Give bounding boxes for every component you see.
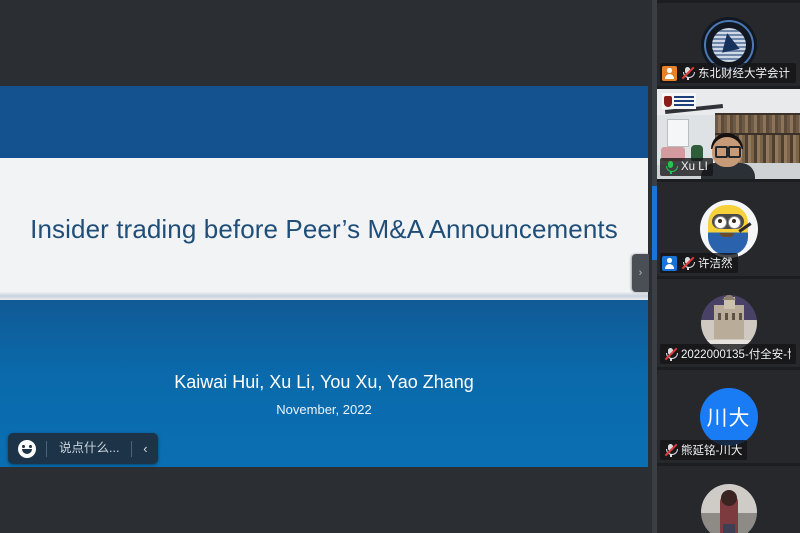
slide-date: November, 2022 xyxy=(0,402,648,417)
zoom-meeting-window: Insider trading before Peer’s M&A Announ… xyxy=(0,0,800,533)
participant-tile[interactable]: Xu LI xyxy=(657,89,800,179)
participant-name: 熊延铭-川大 xyxy=(681,442,742,458)
mic-muted-icon xyxy=(681,66,694,80)
slide-title: Insider trading before Peer’s M&A Announ… xyxy=(0,158,648,300)
slide-authors: Kaiwai Hui, Xu Li, You Xu, Yao Zhang xyxy=(0,372,648,393)
participant-namebar: 熊延铭-川大 xyxy=(660,440,747,460)
slide-top-band xyxy=(0,86,648,158)
presentation-slide: Insider trading before Peer’s M&A Announ… xyxy=(0,86,648,467)
participant-namebar: 东北财经大学会计… xyxy=(660,63,796,83)
participants-panel: 东北财经大学会计… xyxy=(652,0,800,533)
participant-namebar: Xu LI xyxy=(660,158,713,176)
participant-name: 许洁然 xyxy=(698,255,733,271)
mic-muted-icon xyxy=(681,256,694,270)
avatar-badge-icon xyxy=(662,256,677,271)
participant-namebar: 许洁然 xyxy=(660,253,738,273)
person-photo-avatar xyxy=(701,484,757,533)
chat-bar[interactable]: 说点什么... ‹ xyxy=(8,433,158,464)
participant-name: Xu LI xyxy=(681,161,708,173)
participant-tile[interactable]: 2022000135-付全安-博… xyxy=(657,279,800,367)
avatar-badge-icon xyxy=(662,66,677,81)
participant-namebar: 2022000135-付全安-博… xyxy=(660,344,796,364)
mic-muted-icon xyxy=(664,443,677,457)
mic-muted-icon xyxy=(664,347,677,361)
participant-name: 2022000135-付全安-博… xyxy=(681,346,791,362)
chat-input[interactable]: 说点什么... xyxy=(47,433,131,464)
participant-tile[interactable]: 许洁然 xyxy=(657,182,800,276)
mic-unmuted-icon xyxy=(664,160,677,174)
building-photo-avatar xyxy=(701,295,757,351)
hku-logo-icon xyxy=(662,93,696,109)
smiley-icon[interactable] xyxy=(8,433,46,464)
initials-avatar: 川大 xyxy=(700,388,758,446)
collapse-participants-panel-handle[interactable]: › xyxy=(632,254,649,292)
shared-screen-stage: Insider trading before Peer’s M&A Announ… xyxy=(0,0,652,533)
participant-tile[interactable]: 川大 熊延铭-川大 xyxy=(657,370,800,463)
chat-collapse-icon[interactable]: ‹ xyxy=(132,433,158,464)
participant-tile[interactable]: 东北财经大学会计… xyxy=(657,3,800,86)
participant-name: 东北财经大学会计… xyxy=(698,65,791,81)
minion-avatar xyxy=(700,200,758,258)
participant-tile[interactable] xyxy=(657,466,800,533)
